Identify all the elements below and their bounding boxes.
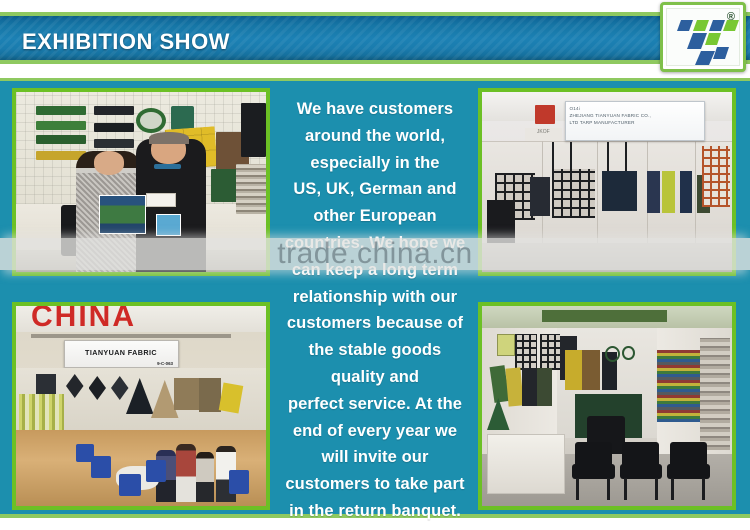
page-root: EXHIBITION SHOW ®	[0, 0, 750, 530]
description-line: the stable goods	[282, 337, 468, 364]
orange-net-sample	[702, 146, 730, 207]
chair-leg	[671, 478, 674, 500]
header-banner-bar: EXHIBITION SHOW	[0, 12, 750, 64]
booth-signboard: O14i ZHEJIANG TIANYUAN FABRIC CO., LTD T…	[565, 101, 705, 141]
description-line: around the world,	[282, 123, 468, 150]
description-line: in the return banquet.	[282, 498, 468, 525]
booth-chair	[76, 444, 94, 462]
chair-leg	[702, 478, 705, 500]
olive-tarp-sample	[537, 368, 552, 406]
photo-2-canvas: JKOF O14i ZHEJIANG TIANYUAN FABRIC CO., …	[482, 92, 732, 272]
booth-code-text: 9-C-063	[157, 361, 173, 366]
wall-divider	[597, 141, 598, 244]
booth-red-logo	[535, 105, 555, 125]
description-line: customers because of	[282, 310, 468, 337]
lime-tarp-sample	[662, 171, 675, 212]
person-staff-2	[176, 444, 196, 502]
booth-chair	[572, 442, 615, 500]
logo-plate: ®	[666, 8, 740, 66]
black-bag-stack	[487, 200, 515, 243]
ceiling-green-band	[542, 310, 667, 322]
description-line: US, UK, German and	[282, 176, 468, 203]
page-header: EXHIBITION SHOW	[0, 12, 750, 64]
photo-4-canvas	[482, 306, 732, 506]
description-line: perfect service. At the	[282, 391, 468, 418]
booth-chair	[119, 474, 142, 496]
hall-banner-text: CHINA	[31, 302, 221, 330]
chair-leg	[607, 478, 610, 500]
color-swatch-stack	[657, 350, 700, 422]
description-line: We have customers	[282, 96, 468, 123]
registered-trademark-icon: ®	[727, 11, 735, 23]
rolled-fabric-rack	[700, 338, 730, 450]
booth-company-line1: ZHEJIANG TIANYUAN FABRIC CO.,	[570, 112, 700, 119]
description-line: relationship with our	[282, 284, 468, 311]
photo-booth-interior-empty	[478, 302, 736, 510]
dark-tarp-sample	[522, 368, 537, 406]
booth-floor	[482, 243, 732, 272]
cargo-net-sample	[515, 334, 538, 370]
company-logo: ®	[660, 2, 746, 72]
photo-booth-visitor-handshake	[12, 88, 270, 276]
wall-divider	[695, 141, 696, 244]
chair-back	[575, 442, 612, 466]
description-line: can keep a long term	[282, 257, 468, 284]
fabric-swatch	[94, 106, 134, 115]
description-line: other European	[282, 203, 468, 230]
ceiling-rail	[31, 334, 231, 338]
description-line: end of every year we	[282, 418, 468, 445]
chair-leg	[624, 478, 627, 500]
description-text-block: We have customersaround the world,especi…	[282, 96, 468, 508]
booth-company-name: TIANYUAN FABRIC	[65, 348, 178, 357]
fabric-swatch	[94, 123, 134, 132]
booth-chair	[229, 470, 249, 494]
fabric-swatch	[36, 106, 86, 115]
product-catalog	[99, 195, 147, 235]
yellow-tarp-sample	[565, 350, 583, 390]
booth-chair	[91, 456, 111, 478]
page-title: EXHIBITION SHOW	[22, 29, 230, 55]
booth-company-line2: LTD TARP MANUFACTURER	[570, 119, 700, 126]
business-card	[146, 193, 176, 207]
fabric-swatch	[36, 135, 86, 144]
reception-counter	[487, 434, 565, 494]
chair-seat	[572, 464, 615, 479]
cargo-net-sample	[540, 334, 560, 370]
booth-code-text: O14i	[570, 105, 700, 112]
neighbour-booth-label: JKOF	[525, 128, 563, 141]
fabric-swatch	[36, 121, 86, 130]
yellow-tarp-sample	[505, 367, 523, 406]
fabric-swatch	[94, 139, 134, 148]
black-tarp-sample	[241, 103, 266, 157]
green-canister-sample	[171, 106, 194, 129]
booth-signboard: TIANYUAN FABRIC 9-C-063	[64, 340, 179, 368]
person-staff-3	[196, 452, 214, 502]
photo-1-canvas	[16, 92, 266, 272]
tarp-sheet-sample	[174, 378, 199, 410]
booth-chair	[620, 442, 663, 500]
brown-tarp-sample	[582, 350, 600, 390]
description-line: especially in the	[282, 150, 468, 177]
booth-chair	[667, 442, 710, 500]
rope-coil-sample	[622, 346, 635, 360]
chair-leg	[576, 478, 579, 500]
photo-booth-team-group: CHINA TIANYUAN FABRIC 9-C-063	[12, 302, 270, 510]
person-saleswoman-face	[94, 151, 124, 174]
cargo-net-sample	[552, 169, 595, 218]
dark-tarp-sample	[530, 177, 550, 217]
badge-lanyard	[154, 164, 182, 169]
tarp-sheet-sample	[199, 378, 222, 412]
visitor-badge	[156, 214, 181, 236]
description-line: countries. We hope we	[282, 230, 468, 257]
chair-back	[622, 442, 659, 466]
rope-coil-sample	[605, 346, 620, 362]
tarp-strip-sample	[680, 171, 693, 212]
navy-tarp-sample	[602, 171, 637, 211]
description-line: will invite our	[282, 444, 468, 471]
tarp-strip-sample	[647, 171, 660, 212]
chair-leg	[655, 478, 658, 500]
description-line: quality and	[282, 364, 468, 391]
booth-chair	[146, 460, 166, 482]
photo-3-canvas: CHINA TIANYUAN FABRIC 9-C-063	[16, 306, 266, 506]
description-line: customers to take part	[282, 471, 468, 498]
sample-card	[497, 334, 515, 356]
chair-seat	[667, 464, 710, 479]
rolled-fabric-stack	[236, 164, 266, 214]
chair-back	[670, 442, 707, 466]
chair-seat	[620, 464, 663, 479]
person-customer-hair	[149, 132, 189, 145]
photo-booth-signboard: JKOF O14i ZHEJIANG TIANYUAN FABRIC CO., …	[478, 88, 736, 276]
